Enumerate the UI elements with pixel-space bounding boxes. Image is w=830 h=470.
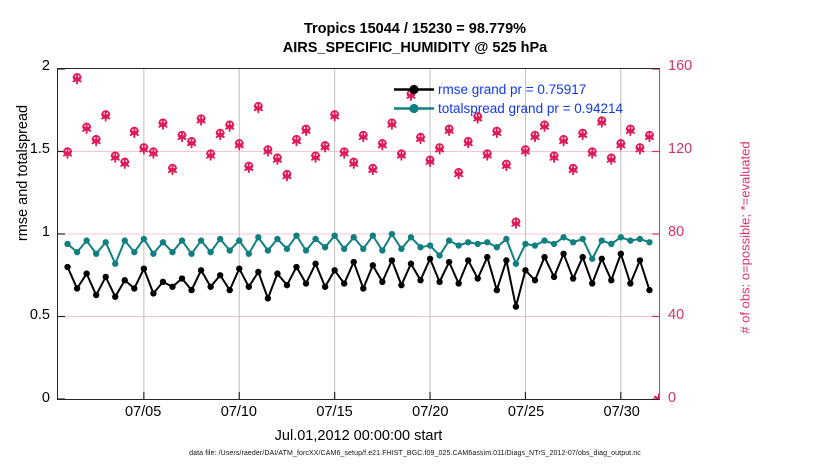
chart-figure: Tropics 15044 / 15230 = 98.779% AIRS_SPE… [0, 0, 830, 470]
x-tick-5: 07/30 [587, 404, 657, 420]
x-tick-0: 07/05 [108, 404, 178, 420]
plot-canvas [58, 69, 659, 399]
y-tick-right-4: 160 [668, 58, 692, 74]
y-tick-left-4: 2 [6, 58, 50, 74]
y-tick-left-0: 0 [6, 390, 50, 406]
x-tick-2: 07/15 [300, 404, 370, 420]
y-tick-left-3: 1.5 [6, 141, 50, 157]
chart-title-line2: AIRS_SPECIFIC_HUMIDITY @ 525 hPa [0, 39, 830, 58]
y-axis-right-label: # of obs: o=possible; *=evaluated [738, 78, 753, 398]
legend-label-rmse: rmse grand pr = 0.75917 [438, 80, 586, 99]
x-tick-3: 07/20 [395, 404, 465, 420]
y-tick-left-2: 1 [6, 224, 50, 240]
y-tick-right-3: 120 [668, 141, 692, 157]
legend-item-totalspread: totalspread grand pr = 0.94214 [392, 99, 654, 118]
data-file-caption: data file: /Users/raeder/DAI/ATM_forcXX/… [0, 450, 830, 457]
legend-swatch-totalspread [392, 99, 436, 118]
x-axis-label: Jul.01,2012 00:00:00 start [0, 428, 717, 444]
legend-item-rmse: rmse grand pr = 0.75917 [392, 80, 654, 99]
x-tick-1: 07/10 [204, 404, 274, 420]
chart-legend: rmse grand pr = 0.75917 totalspread gran… [392, 80, 654, 118]
y-tick-right-1: 40 [668, 307, 684, 323]
y-tick-right-2: 80 [668, 224, 684, 240]
legend-swatch-rmse [392, 80, 436, 99]
y-tick-right-0: 0 [668, 390, 676, 406]
legend-label-totalspread: totalspread grand pr = 0.94214 [438, 99, 623, 118]
x-tick-4: 07/25 [491, 404, 561, 420]
chart-title-line1: Tropics 15044 / 15230 = 98.779% [0, 20, 830, 39]
y-tick-left-1: 0.5 [6, 307, 50, 323]
chart-title: Tropics 15044 / 15230 = 98.779% AIRS_SPE… [0, 20, 830, 58]
